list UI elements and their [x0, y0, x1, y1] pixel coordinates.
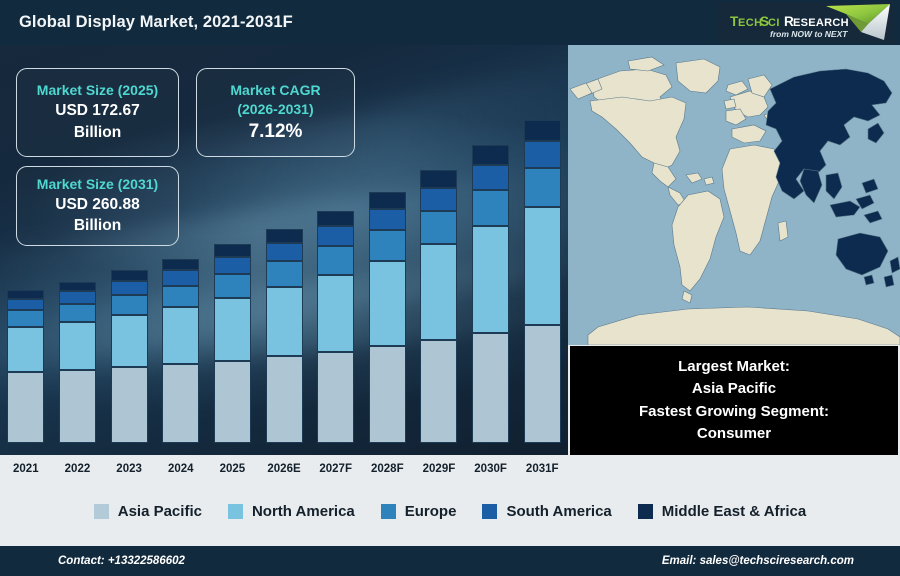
bar-slot [52, 113, 104, 443]
svg-text:CI: CI [768, 17, 780, 29]
bar-segment [59, 291, 96, 304]
stat-value-cagr: 7.12% [197, 119, 354, 145]
bar-slot [258, 113, 310, 443]
stat-value: USD 260.88 [17, 194, 178, 216]
bar-slot [361, 113, 413, 443]
stat-unit: Billion [17, 122, 178, 144]
bar-segment [214, 298, 251, 360]
bar-segment [214, 257, 251, 274]
stacked-bar [111, 270, 148, 443]
x-axis-label: 2025 [220, 463, 246, 475]
legend-label: North America [252, 503, 355, 520]
world-map [568, 45, 900, 345]
x-axis-tick: 2029F [413, 459, 465, 477]
bar-segment [162, 259, 199, 271]
header-bar: Global Display Market, 2021-2031F [0, 0, 900, 45]
x-axis-label: 2027F [319, 463, 352, 475]
bar-segment [524, 325, 561, 443]
x-axis-tick: 2023 [103, 459, 155, 477]
x-axis-label: 2031F [526, 463, 559, 475]
bar-slot [103, 113, 155, 443]
stat-label: Market Size (2031) [17, 175, 178, 194]
stacked-bar [162, 259, 199, 443]
bar-segment [266, 229, 303, 243]
bar-segment [420, 188, 457, 211]
info-box: Largest Market: Asia Pacific Fastest Gro… [570, 346, 898, 455]
bar-segment [317, 246, 354, 275]
stat-value: USD 172.67 [17, 100, 178, 122]
x-axis-label: 2026E [267, 463, 300, 475]
x-axis: 202120222023202420252026E2027F2028F2029F… [0, 455, 568, 481]
bar-segment [317, 211, 354, 226]
legend-swatch-icon [638, 504, 653, 519]
bar-segment [162, 307, 199, 364]
bar-segment [162, 286, 199, 308]
svg-text:ESEARCH: ESEARCH [793, 17, 849, 29]
stacked-bar [524, 120, 561, 443]
x-axis-tick: 2031F [516, 459, 568, 477]
bar-slot [310, 113, 362, 443]
stacked-bar [369, 192, 406, 443]
footer-bar: Contact: +13322586602 Email: sales@techs… [0, 546, 900, 576]
x-axis-label: 2029F [423, 463, 456, 475]
bar-segment [369, 346, 406, 443]
legend-item[interactable]: Middle East & Africa [638, 503, 806, 520]
stacked-bar [59, 282, 96, 443]
bar-segment [317, 352, 354, 443]
x-axis-tick: 2022 [52, 459, 104, 477]
x-axis-tick: 2028F [361, 459, 413, 477]
bar-segment [7, 310, 44, 327]
bar-segment [7, 299, 44, 311]
bar-segment [59, 304, 96, 322]
bar-group [0, 113, 568, 443]
legend-item[interactable]: North America [228, 503, 355, 520]
bar-slot [465, 113, 517, 443]
legend-swatch-icon [94, 504, 109, 519]
stat-box-market-size-2025: Market Size (2025) USD 172.67 Billion [16, 68, 179, 157]
bar-segment [111, 367, 148, 443]
bar-segment [524, 120, 561, 141]
stacked-bar [317, 211, 354, 443]
footer-contact: Contact: +13322586602 [58, 555, 185, 567]
stat-label-line1: Market CAGR [197, 81, 354, 100]
stat-box-market-size-2031: Market Size (2031) USD 260.88 Billion [16, 166, 179, 246]
bar-segment [369, 261, 406, 346]
x-axis-tick: 2027F [310, 459, 362, 477]
stat-label-line2: (2026-2031) [197, 100, 354, 119]
legend-label: Europe [405, 503, 457, 520]
bar-segment [7, 290, 44, 299]
info-largest-market-value: Asia Pacific [692, 378, 776, 401]
bar-slot [413, 113, 465, 443]
bar-segment [369, 209, 406, 230]
bar-segment [369, 192, 406, 209]
bar-segment [7, 327, 44, 372]
bar-segment [472, 145, 509, 164]
info-fastest-segment-label: Fastest Growing Segment: [639, 401, 829, 424]
legend-swatch-icon [381, 504, 396, 519]
stacked-bar [420, 170, 457, 443]
bar-segment [266, 356, 303, 443]
bar-segment [472, 333, 509, 443]
stacked-bar [214, 244, 251, 443]
legend-label: Asia Pacific [118, 503, 202, 520]
stacked-bar [7, 290, 44, 443]
techsci-research-logo: T ECH S CI R ESEARCH from NOW to NEXT [718, 2, 894, 44]
legend-item[interactable]: Asia Pacific [94, 503, 202, 520]
bar-segment [111, 281, 148, 295]
stat-label: Market Size (2025) [17, 81, 178, 100]
bar-segment [111, 270, 148, 281]
bar-segment [420, 340, 457, 443]
bar-segment [59, 322, 96, 370]
x-axis-label: 2021 [13, 463, 39, 475]
infographic-root: Global Display Market, 2021-2031F [0, 0, 900, 576]
svg-text:from NOW to NEXT: from NOW to NEXT [770, 29, 848, 39]
stat-unit: Billion [17, 215, 178, 237]
stacked-bar [266, 229, 303, 443]
x-axis-label: 2030F [474, 463, 507, 475]
bar-segment [472, 190, 509, 227]
bar-segment [369, 230, 406, 261]
bar-segment [266, 261, 303, 288]
bar-segment [214, 274, 251, 298]
bar-segment [420, 211, 457, 245]
bar-segment [524, 141, 561, 168]
legend-label: South America [506, 503, 611, 520]
bar-segment [524, 207, 561, 325]
x-axis-tick: 2030F [465, 459, 517, 477]
bar-segment [162, 270, 199, 285]
bar-segment [266, 243, 303, 261]
bar-segment [524, 168, 561, 207]
x-axis-tick: 2021 [0, 459, 52, 477]
bar-segment [111, 315, 148, 367]
x-axis-label: 2023 [116, 463, 142, 475]
bar-segment [7, 372, 44, 443]
bar-segment [317, 275, 354, 352]
bar-segment [59, 282, 96, 291]
page-title: Global Display Market, 2021-2031F [19, 13, 293, 32]
info-largest-market-label: Largest Market: [678, 356, 790, 379]
bar-segment [162, 364, 199, 443]
info-fastest-segment-value: Consumer [697, 423, 771, 446]
stat-box-market-cagr: Market CAGR (2026-2031) 7.12% [196, 68, 355, 157]
bar-segment [420, 170, 457, 188]
x-axis-tick: 2024 [155, 459, 207, 477]
x-axis-label: 2022 [65, 463, 91, 475]
stacked-bar [472, 145, 509, 443]
legend-item[interactable]: Europe [381, 503, 457, 520]
x-axis-tick: 2025 [207, 459, 259, 477]
bar-slot [207, 113, 259, 443]
bar-slot [0, 113, 52, 443]
bar-slot [155, 113, 207, 443]
bar-segment [317, 226, 354, 246]
bar-segment [111, 295, 148, 315]
svg-text:ECH: ECH [738, 17, 762, 29]
legend-swatch-icon [482, 504, 497, 519]
legend-swatch-icon [228, 504, 243, 519]
legend-item[interactable]: South America [482, 503, 611, 520]
bar-segment [266, 287, 303, 356]
bar-segment [214, 361, 251, 444]
bar-segment [472, 226, 509, 333]
bar-segment [214, 244, 251, 257]
chart-legend: Asia PacificNorth AmericaEuropeSouth Ame… [0, 481, 900, 541]
x-axis-tick: 2026E [258, 459, 310, 477]
legend-label: Middle East & Africa [662, 503, 806, 520]
x-axis-label: 2024 [168, 463, 194, 475]
bar-slot [516, 113, 568, 443]
footer-email: Email: sales@techsciresearch.com [662, 555, 854, 567]
bar-segment [59, 370, 96, 443]
bar-segment [420, 244, 457, 339]
bar-segment [472, 165, 509, 190]
x-axis-label: 2028F [371, 463, 404, 475]
